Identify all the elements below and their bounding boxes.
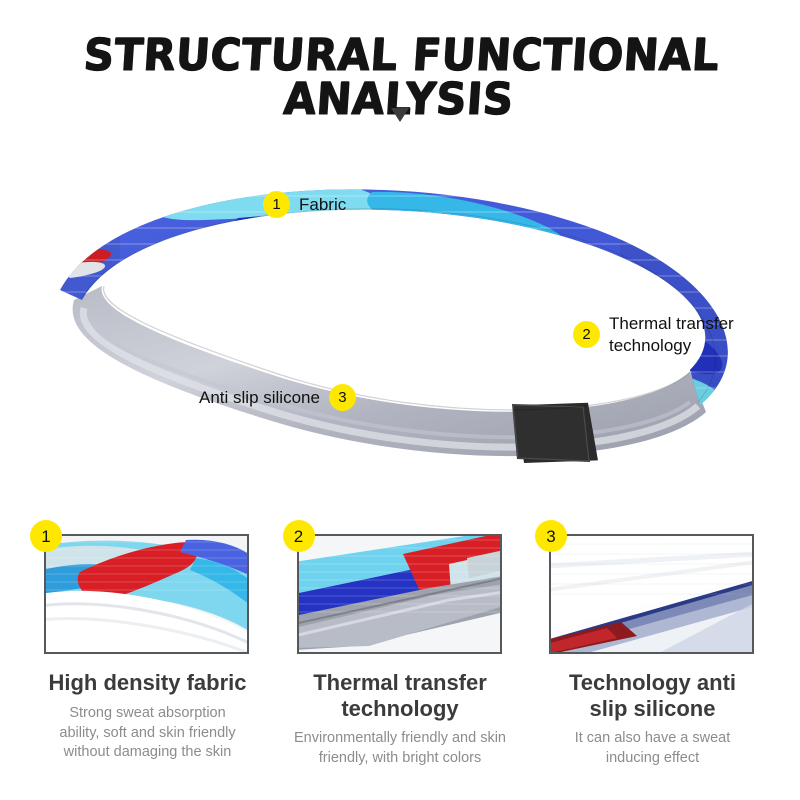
hero-product-image: 1 Fabric 2 Thermal transfer technology A… xyxy=(0,140,800,490)
card-title-3: Technology anti slip silicone xyxy=(535,670,770,722)
callout-label-3: Anti slip silicone xyxy=(199,387,320,409)
feature-card-list: 1 xyxy=(0,520,800,800)
callout-anti-slip-silicone: Anti slip silicone 3 xyxy=(199,384,356,411)
photo-high-density-fabric xyxy=(46,536,247,652)
callout-badge-3: 3 xyxy=(329,384,356,411)
card-body-1: Strong sweat absorption ability, soft an… xyxy=(30,704,265,763)
chevron-down-triangle-icon xyxy=(391,108,409,122)
photo-thermal-transfer xyxy=(299,536,500,652)
photo-anti-slip-silicone xyxy=(551,536,752,652)
card-body-3: It can also have a sweat inducing effect xyxy=(535,729,770,768)
infographic-page: STRUCTURAL FUNCTIONAL ANALYSIS xyxy=(0,0,800,800)
card-badge-3: 3 xyxy=(535,520,567,552)
card-body-2: Environmentally friendly and skin friend… xyxy=(283,729,518,768)
card-photo-2 xyxy=(297,534,502,654)
card-title-2: Thermal transfer technology xyxy=(283,670,518,722)
callout-badge-2: 2 xyxy=(573,321,600,348)
card-title-1: High density fabric xyxy=(30,670,265,696)
callout-badge-1: 1 xyxy=(263,191,290,218)
feature-card: 1 xyxy=(30,520,265,800)
card-photo-3 xyxy=(549,534,754,654)
card-badge-2: 2 xyxy=(283,520,315,552)
callout-label-1: Fabric xyxy=(299,194,346,216)
feature-card: 3 xyxy=(535,520,770,800)
callout-label-2: Thermal transfer technology xyxy=(609,313,734,357)
feature-card: 2 xyxy=(283,520,518,800)
card-badge-1: 1 xyxy=(30,520,62,552)
callout-fabric: 1 Fabric xyxy=(263,191,346,218)
callout-thermal-transfer: 2 Thermal transfer technology xyxy=(573,313,734,357)
card-photo-1 xyxy=(44,534,249,654)
